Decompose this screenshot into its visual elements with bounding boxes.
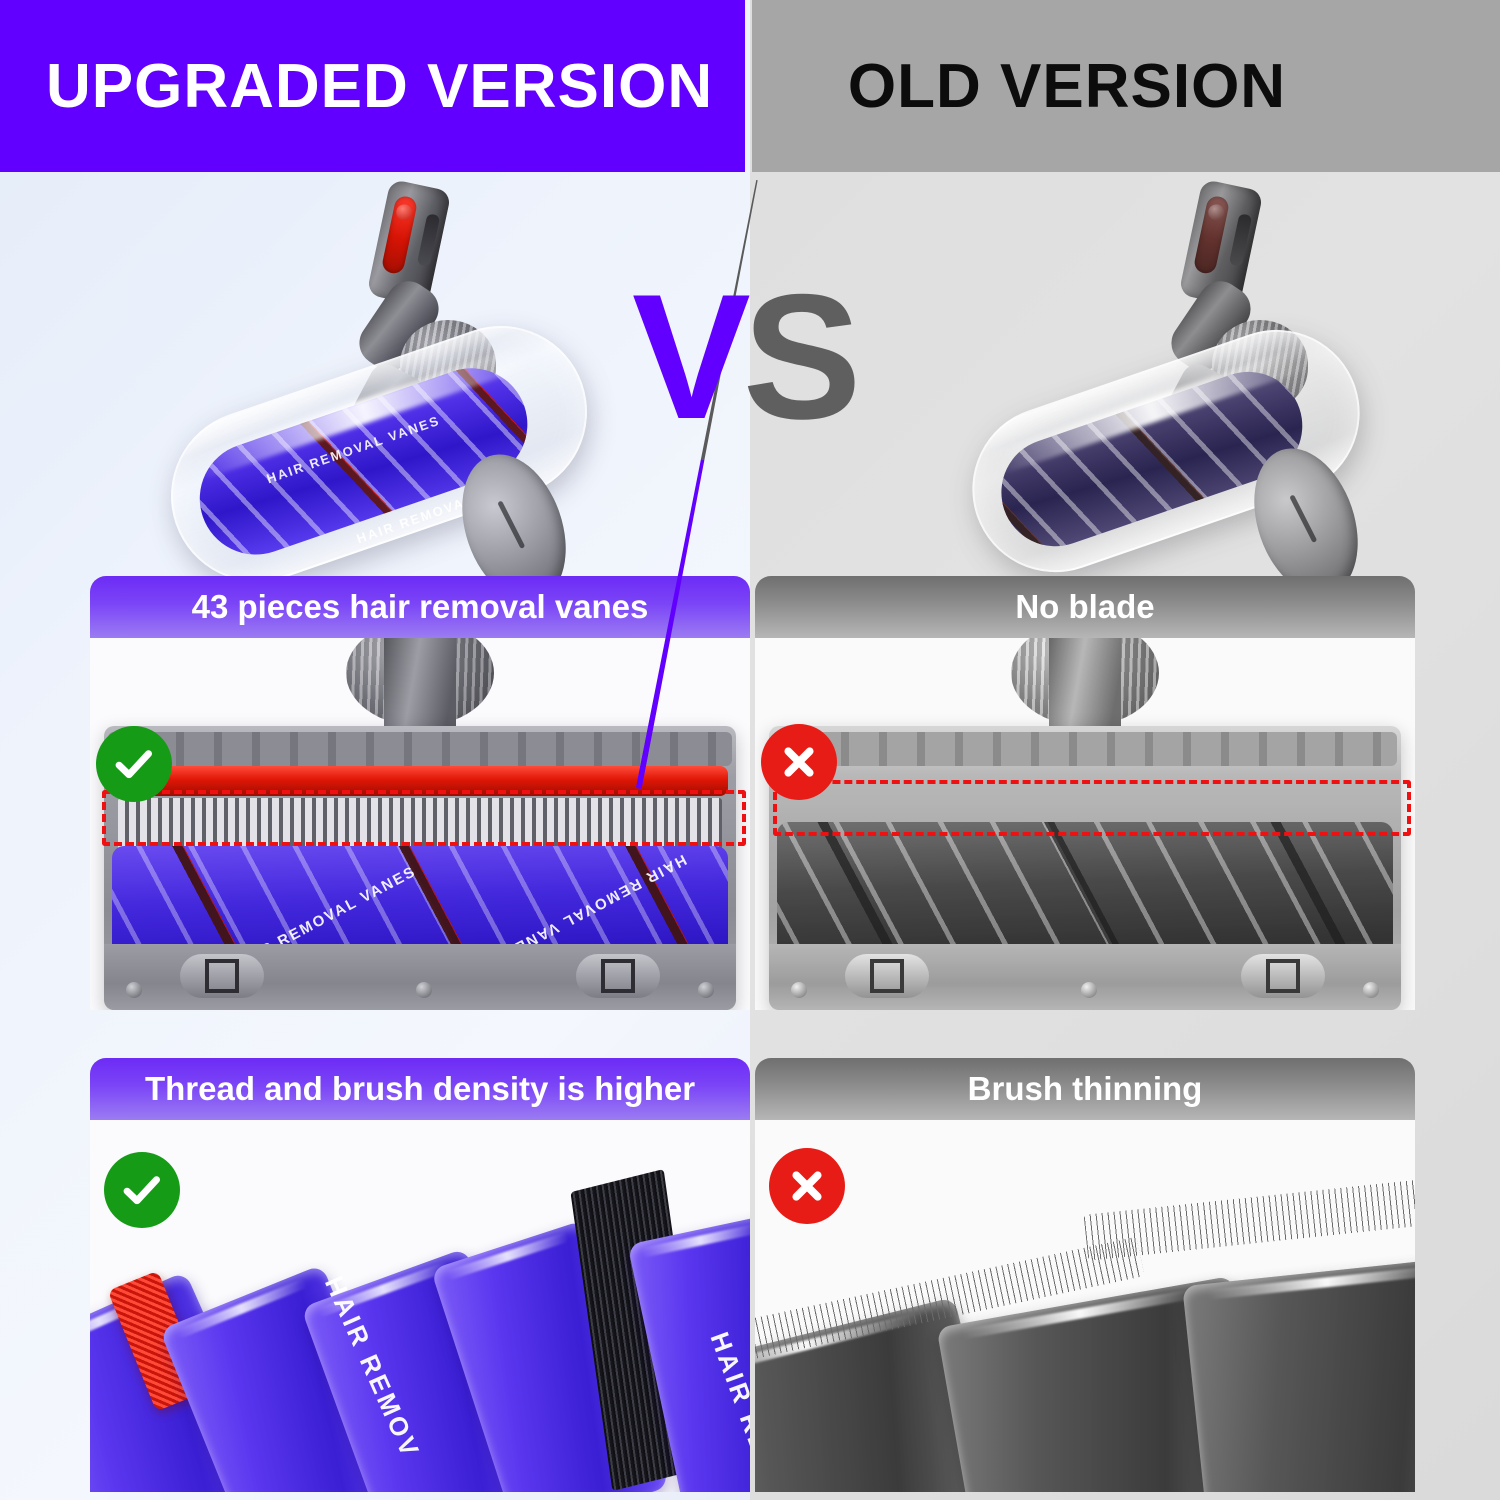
red-release-tab-icon xyxy=(381,194,419,275)
status-badge-check xyxy=(104,1152,180,1228)
vs-label: VS xyxy=(632,268,853,446)
connector-slot-icon xyxy=(1229,213,1253,267)
card-old-no-blade: No blade xyxy=(755,576,1415,1010)
vs-divider: VS xyxy=(632,268,882,498)
screw-left xyxy=(126,982,142,998)
header-upgraded-title: UPGRADED VERSION xyxy=(46,51,713,122)
caption-text: 43 pieces hair removal vanes xyxy=(192,588,649,626)
connector-slot-icon xyxy=(417,213,441,267)
header-old-version: OLD VERSION xyxy=(752,0,1500,172)
header-old-title: OLD VERSION xyxy=(848,51,1286,122)
screw-left xyxy=(791,982,807,998)
surface-highlight xyxy=(1207,1265,1415,1300)
top-grille xyxy=(773,732,1397,766)
latch-right xyxy=(576,954,660,998)
red-release-tab-icon xyxy=(1193,194,1231,275)
screw-right xyxy=(1363,982,1379,998)
comparison-infographic: UPGRADED VERSION OLD VERSION HAIR REMOVA… xyxy=(0,0,1500,1500)
screw-right xyxy=(698,982,714,998)
card-old-brush-thinning: Brush thinning xyxy=(755,1058,1415,1492)
status-badge-check xyxy=(96,726,172,802)
screw-center xyxy=(416,982,432,998)
status-badge-cross xyxy=(769,1148,845,1224)
latch-left xyxy=(845,954,929,998)
screw-center xyxy=(1081,982,1097,998)
photo-old-brush-macro xyxy=(755,1120,1415,1492)
missing-blade-highlight-rect xyxy=(773,780,1411,836)
cross-icon xyxy=(784,1163,830,1209)
card-upgraded-vanes: 43 pieces hair removal vanes HAIR REMOVA… xyxy=(90,576,750,1010)
vs-letter-v: V xyxy=(632,257,743,456)
vanes-highlight-rect xyxy=(102,790,746,846)
latch-left xyxy=(180,954,264,998)
card-upgraded-density: Thread and brush density is higher HAIR … xyxy=(90,1058,750,1492)
status-badge-cross xyxy=(761,724,837,800)
roller-surface-3 xyxy=(1182,1255,1415,1492)
caption-text: Thread and brush density is higher xyxy=(145,1070,695,1108)
cross-icon xyxy=(776,739,822,785)
head-body xyxy=(769,726,1401,1010)
thin-bristle-row-2 xyxy=(1084,1177,1415,1260)
check-icon xyxy=(111,741,157,787)
top-grille xyxy=(108,732,732,766)
header-upgraded-version: UPGRADED VERSION xyxy=(0,0,745,172)
photo-upgraded-brush-head: HAIR REMOVAL VANES HAIR REMOVAL VANES xyxy=(90,638,750,1010)
caption-bar-vanes: 43 pieces hair removal vanes xyxy=(90,576,750,638)
macro-roller-closeup: HAIR REMOV HAIR RE xyxy=(90,1120,750,1492)
caption-text: Brush thinning xyxy=(968,1070,1203,1108)
caption-bar-thinning: Brush thinning xyxy=(755,1058,1415,1120)
caption-text: No blade xyxy=(1015,588,1154,626)
photo-upgraded-brush-macro: HAIR REMOV HAIR RE xyxy=(90,1120,750,1492)
macro-roller-closeup xyxy=(755,1120,1415,1492)
vs-letter-s: S xyxy=(743,257,854,456)
photo-old-brush-head xyxy=(755,638,1415,1010)
check-icon xyxy=(119,1167,165,1213)
caption-bar-density: Thread and brush density is higher xyxy=(90,1058,750,1120)
latch-right xyxy=(1241,954,1325,998)
caption-bar-no-blade: No blade xyxy=(755,576,1415,638)
